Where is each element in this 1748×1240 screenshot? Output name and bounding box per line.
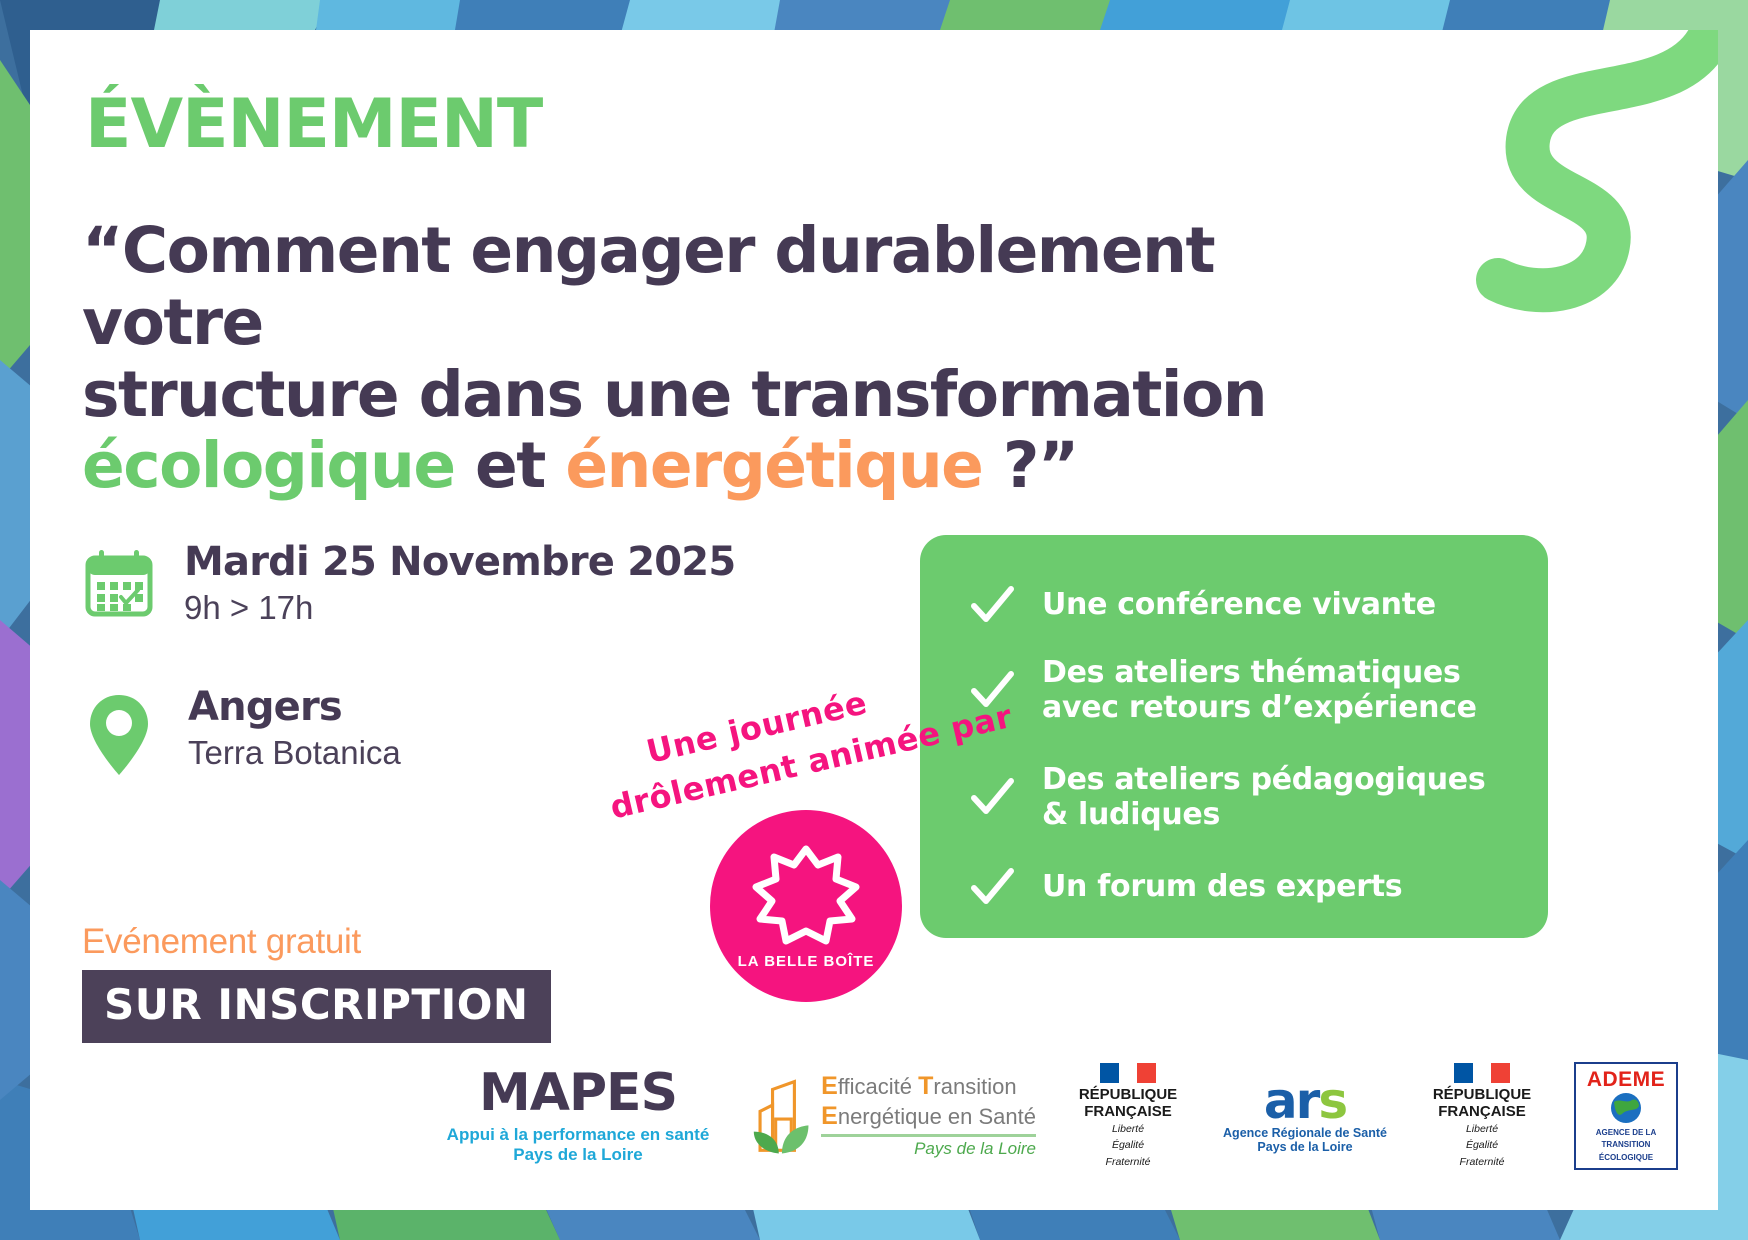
ademe-sub-1: AGENCE DE LA: [1596, 1128, 1656, 1138]
calendar-icon: [80, 540, 158, 620]
page-kicker: ÉVÈNEMENT: [85, 85, 542, 164]
ademe-sub-3: ÉCOLOGIQUE: [1599, 1153, 1653, 1163]
highlight-item: Des ateliers pédagogiques & ludiques: [968, 762, 1518, 833]
globe-icon: [1606, 1090, 1646, 1126]
ees-line1-rest: fficacité: [838, 1074, 918, 1099]
partner-logos-row: MAPES Appui à la performance en santé Pa…: [85, 1050, 1678, 1182]
rf1-motto-2: Égalité: [1112, 1139, 1144, 1152]
headline-word-energetique: énergétique: [565, 429, 982, 502]
rf1-title-1: RÉPUBLIQUE: [1079, 1087, 1177, 1104]
headline-word-ecologique: écologique: [82, 429, 455, 502]
event-time: 9h > 17h: [184, 589, 735, 627]
starburst-icon: [750, 843, 862, 947]
ars-logo: ars Agence Régionale de Santé Pays de la…: [1220, 1079, 1390, 1154]
ademe-name: ADEME: [1587, 1069, 1665, 1090]
event-venue: Terra Botanica: [188, 734, 401, 772]
mapes-tagline-1: Appui à la performance en santé: [447, 1125, 710, 1145]
page-title: “Comment engager durablement votre struc…: [82, 215, 1382, 502]
headline-line-2: structure dans une transformation: [82, 358, 1266, 431]
free-event-label: Evénement gratuit: [82, 922, 361, 962]
la-belle-boite-name: LA BELLE BOÎTE: [738, 953, 875, 970]
green-squiggle-decoration: [1238, 30, 1718, 330]
ees-rule: [821, 1134, 1036, 1137]
rf2-title-1: RÉPUBLIQUE: [1433, 1087, 1531, 1104]
la-belle-boite-logo: LA BELLE BOÎTE: [710, 810, 902, 1002]
ars-sub-1: Agence Régionale de Santé: [1223, 1126, 1387, 1140]
ars-letter-a: a: [1264, 1072, 1296, 1130]
mapes-logo: MAPES Appui à la performance en santé Pa…: [444, 1067, 712, 1165]
ees-e1: E: [821, 1072, 838, 1100]
ees-logo: Efficacité Transition Energétique en San…: [746, 1066, 1036, 1166]
poster-card: ÉVÈNEMENT “Comment engager durablement v…: [30, 30, 1718, 1210]
ademe-logo: ADEME AGENCE DE LA TRANSITION ÉCOLOGIQUE: [1574, 1062, 1678, 1170]
french-flag-icon: [1454, 1063, 1510, 1083]
rf2-title-2: FRANÇAISE: [1438, 1104, 1526, 1121]
rf2-motto-3: Fraternité: [1460, 1156, 1505, 1169]
check-icon: [968, 863, 1016, 911]
ees-region: Pays de la Loire: [821, 1139, 1036, 1159]
building-leaf-icon: [746, 1066, 813, 1166]
highlight-item: Un forum des experts: [968, 863, 1518, 911]
rf2-motto-1: Liberté: [1466, 1123, 1498, 1136]
rf1-title-2: FRANÇAISE: [1084, 1104, 1172, 1121]
registration-badge[interactable]: SUR INSCRIPTION: [82, 970, 551, 1043]
event-date-block: Mardi 25 Novembre 2025 9h > 17h: [80, 540, 735, 627]
ees-t: T: [918, 1072, 933, 1100]
republique-francaise-logo-2: RÉPUBLIQUE FRANÇAISE Liberté Égalité Fra…: [1424, 1063, 1540, 1168]
ees-line-2: Energétique en Santé: [821, 1102, 1036, 1132]
event-city: Angers: [188, 685, 401, 730]
highlight-text: Des ateliers thématiques avec retours d’…: [1042, 655, 1518, 726]
rf1-motto-3: Fraternité: [1106, 1156, 1151, 1169]
location-pin-icon: [80, 685, 158, 779]
ars-letter-r: r: [1296, 1072, 1319, 1130]
highlight-text: Une conférence vivante: [1042, 587, 1436, 622]
check-icon: [968, 581, 1016, 629]
ees-e2: E: [821, 1102, 838, 1130]
french-flag-icon: [1100, 1063, 1156, 1083]
mapes-tagline-2: Pays de la Loire: [513, 1145, 642, 1165]
ees-line2-rest: nergétique en Santé: [838, 1104, 1036, 1129]
rf2-motto-2: Égalité: [1466, 1139, 1498, 1152]
mapes-name: MAPES: [479, 1067, 677, 1119]
headline-tail: ?”: [982, 429, 1077, 502]
highlight-text: Un forum des experts: [1042, 869, 1402, 904]
ademe-sub-2: TRANSITION: [1602, 1140, 1651, 1150]
highlight-item: Des ateliers thématiques avec retours d’…: [968, 655, 1518, 726]
highlight-text: Des ateliers pédagogiques & ludiques: [1042, 762, 1518, 833]
ees-line-1: Efficacité Transition: [821, 1072, 1036, 1102]
ars-wordmark: ars: [1264, 1079, 1346, 1124]
ees-line1-rest2: ransition: [933, 1074, 1016, 1099]
event-date: Mardi 25 Novembre 2025: [184, 540, 735, 585]
highlight-item: Une conférence vivante: [968, 581, 1518, 629]
event-location-block: Angers Terra Botanica: [80, 685, 401, 779]
headline-word-et: et: [455, 429, 566, 502]
rf1-motto-1: Liberté: [1112, 1123, 1144, 1136]
ars-letter-s: s: [1318, 1072, 1346, 1130]
republique-francaise-logo-1: RÉPUBLIQUE FRANÇAISE Liberté Égalité Fra…: [1070, 1063, 1186, 1168]
ars-sub-2: Pays de la Loire: [1257, 1140, 1352, 1154]
headline-line-1: “Comment engager durablement votre: [82, 214, 1214, 359]
check-icon: [968, 773, 1016, 821]
